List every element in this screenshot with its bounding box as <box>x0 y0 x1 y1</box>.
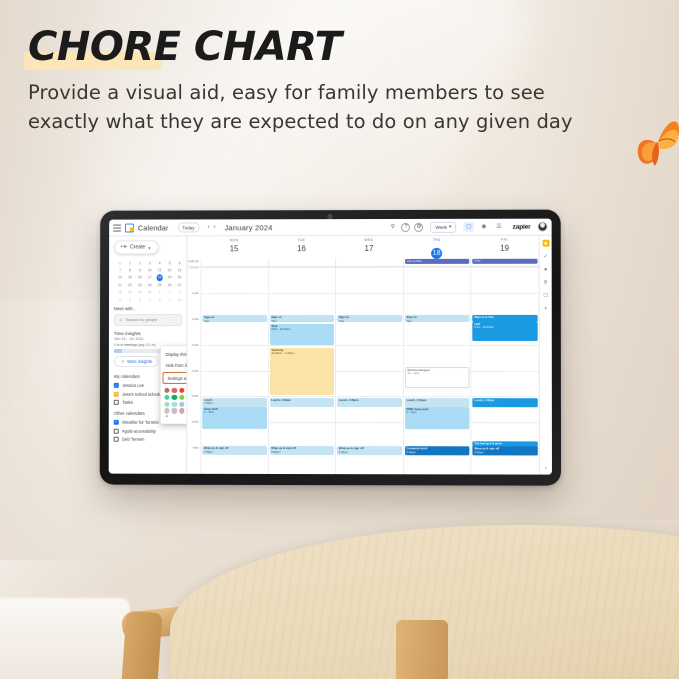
time-label: 6 PM <box>192 420 199 424</box>
event-title: Top lead gen & grow <box>474 442 536 446</box>
context-menu-item[interactable]: Hide from list <box>161 360 187 371</box>
color-swatch-grid[interactable] <box>160 385 186 415</box>
minical-day[interactable]: 27 <box>175 281 185 288</box>
minical-day[interactable]: 24 <box>145 281 155 288</box>
day-number[interactable]: 19 <box>471 242 539 253</box>
color-swatch[interactable] <box>172 395 177 400</box>
hero-text-block: CHORE CHART Provide a visual aid, easy f… <box>28 26 628 137</box>
sidebar: +++ Create ▾ 311234567891011121314151617… <box>109 236 187 473</box>
search-people-input[interactable]: ☺ Search for people <box>114 314 183 326</box>
calendar-checkbox[interactable]: ✓ <box>114 420 119 425</box>
time-insights-heading: Time insights <box>114 331 183 336</box>
hour-line <box>336 371 403 372</box>
hour-line <box>201 267 267 268</box>
calendar-name: Jess's school schedule <box>122 392 164 397</box>
minical-day[interactable]: 30 <box>135 289 145 296</box>
tablet-device: Calendar Today ‹ › January 2024 ⚲ ? ⚙ We… <box>100 210 561 486</box>
event-time: 2 – 5pm <box>406 411 468 414</box>
calendar-view-icon[interactable]: ▢ <box>463 222 474 232</box>
time-label: 5 PM <box>192 394 199 398</box>
day-number[interactable]: 15 <box>200 243 267 254</box>
page-subtitle: Provide a visual aid, easy for family me… <box>28 78 603 137</box>
minical-day[interactable]: 5 <box>165 259 175 266</box>
minical-day[interactable]: 5 <box>125 296 135 303</box>
date-navigation: ‹ › <box>207 224 215 230</box>
app-title: Calendar <box>138 223 169 232</box>
minical-day[interactable]: 4 <box>155 259 165 266</box>
insights-icon: ↗ <box>121 359 124 364</box>
calendar-event[interactable]: Sign on7am <box>270 315 335 322</box>
mini-calendar[interactable]: 3112345678910111213141516171819202122232… <box>115 259 185 303</box>
day-headers: MON15TUE16WED17THU18FRI19 <box>188 236 539 259</box>
minical-day[interactable]: 29 <box>125 289 135 296</box>
time-grid: 12 AM1 AM2 AM3 AM4 AM5 PM6 PM7 PM Sign o… <box>187 267 539 475</box>
all-day-cell[interactable] <box>335 258 403 266</box>
day-column[interactable]: Sign on & 7amL&D9:15 – 10:15amLunch, 1:3… <box>471 267 539 475</box>
chevron-down-icon: ▾ <box>449 224 451 230</box>
day-header[interactable]: FRI19 <box>471 236 539 258</box>
calendar-event[interactable]: Wrap up & sign off5:30pm <box>337 446 402 455</box>
calendar-event[interactable]: Lunch1:30pm <box>202 398 266 407</box>
hour-line <box>336 345 403 346</box>
calendar-event[interactable]: Remote Hangout12 – 1pm <box>405 367 470 388</box>
event-time: 2 – 5pm <box>204 411 265 414</box>
event-title: Sign on & 7am <box>474 316 536 319</box>
calendar-event[interactable]: Deep work2 – 5pm <box>202 407 266 429</box>
minical-day[interactable]: 6 <box>135 296 145 303</box>
calendar-event[interactable]: PMR: deep work2 – 5pm <box>405 407 470 430</box>
minical-day[interactable]: 4 <box>115 296 125 303</box>
hour-line <box>404 345 471 346</box>
hour-line <box>404 293 471 294</box>
calendar-event[interactable]: L&D9:15 – 10:15am <box>473 322 538 341</box>
day-number[interactable]: 16 <box>268 243 335 254</box>
all-day-row: GMT-05 Out of officePTO <box>188 258 539 268</box>
event-time: 5:30pm <box>271 451 332 455</box>
contacts-icon[interactable]: ● <box>542 266 549 273</box>
event-time: 5:30pm <box>204 450 265 454</box>
more-insights-label: More insights <box>127 359 152 364</box>
calendar-event[interactable]: Wrap up & sign off5:30pm <box>473 447 538 456</box>
event-time: 5:30pm <box>339 451 401 455</box>
minical-day[interactable]: 31 <box>145 289 155 296</box>
timezone-label: GMT-05 <box>188 259 201 263</box>
calendar-toolbar: Calendar Today ‹ › January 2024 ⚲ ? ⚙ We… <box>109 219 552 237</box>
time-gutter: 12 AM1 AM2 AM3 AM4 AM5 PM6 PM7 PM <box>187 267 200 474</box>
minical-day[interactable]: 1 <box>125 259 135 266</box>
tablet-screen: Calendar Today ‹ › January 2024 ⚲ ? ⚙ We… <box>109 219 552 475</box>
event-time: 1:30pm <box>204 402 265 405</box>
all-day-cell[interactable]: Out of office <box>403 258 471 266</box>
time-label: 2 AM <box>192 317 198 321</box>
day-column[interactable]: Sign on7amTask9:30 – 10:30amTeaching10:4… <box>268 267 336 474</box>
minical-day[interactable]: 16 <box>135 274 145 281</box>
calendar-list-item[interactable]: Deb Tennen <box>114 435 183 444</box>
event-time: 5:30pm <box>406 451 468 455</box>
minical-day[interactable]: 22 <box>125 281 135 288</box>
calendar-event[interactable]: Sign on7am <box>405 315 470 322</box>
my-calendars-label: My calendars <box>114 374 140 379</box>
minical-day[interactable]: 10 <box>175 296 185 303</box>
minical-day[interactable]: 14 <box>115 274 125 281</box>
all-day-event[interactable]: PTO <box>473 259 538 264</box>
color-swatch[interactable] <box>172 408 177 413</box>
hamburger-icon[interactable] <box>113 224 121 231</box>
hour-line <box>269 422 336 423</box>
maps-icon[interactable]: ⚲ <box>542 279 549 286</box>
search-icon[interactable]: ⚲ <box>388 222 397 231</box>
calendar-event[interactable]: Sign on7am <box>202 315 266 322</box>
today-button[interactable]: Today <box>177 222 199 232</box>
calendar-event[interactable]: Lunch, 1:30pm <box>405 398 470 407</box>
view-select[interactable]: Week ▾ <box>431 221 457 232</box>
chevron-down-icon: ▾ <box>148 245 150 250</box>
event-time: 5:30pm <box>474 451 536 455</box>
calendar-checkbox[interactable] <box>114 428 119 433</box>
event-time: 9:15 – 10:15am <box>474 326 536 329</box>
hour-line <box>472 371 539 372</box>
minical-day[interactable]: 6 <box>175 259 185 266</box>
chevron-expand-icon[interactable]: › <box>545 466 547 472</box>
minical-day[interactable]: 25 <box>155 281 165 288</box>
color-swatch[interactable] <box>179 395 184 400</box>
radiator <box>0 598 130 679</box>
day-of-week-label: FRI <box>471 238 539 242</box>
minical-day[interactable]: 15 <box>125 274 135 281</box>
calendar-name: Jessica Lee <box>122 383 144 388</box>
minical-day[interactable]: 2 <box>165 289 175 296</box>
day-of-week-label: MON <box>200 238 267 242</box>
hour-line <box>404 267 471 268</box>
event-title: Lunch, 1:30pm <box>339 399 400 402</box>
meet-with-label: Meet with… <box>114 306 183 311</box>
all-day-event[interactable]: Out of office <box>405 259 470 264</box>
create-button-label: Create <box>130 244 145 250</box>
minical-day[interactable]: 8 <box>125 267 135 274</box>
apps-grid-icon[interactable]: ☰ <box>493 222 504 232</box>
hour-line <box>336 267 403 268</box>
tasks-icon[interactable]: ✓ <box>542 253 549 260</box>
all-day-cell[interactable]: PTO <box>471 258 539 266</box>
minical-day[interactable]: 23 <box>135 281 145 288</box>
color-swatch[interactable] <box>164 408 169 413</box>
plus-icon[interactable]: + <box>542 305 549 312</box>
side-apps-rail: ■ ✓ ● ⚲ ☐ + › <box>539 236 552 475</box>
other-calendars-label: Other calendars <box>114 410 145 415</box>
search-people-placeholder: Search for people <box>126 317 157 322</box>
day-of-week-label: TUE <box>268 238 335 242</box>
calendar-event[interactable]: Lunch, 1:30pm <box>473 398 538 407</box>
time-label: 3 AM <box>192 343 198 347</box>
minical-day[interactable]: 20 <box>175 274 185 281</box>
keep-icon[interactable]: ■ <box>542 240 549 247</box>
day-column[interactable]: Sign on7amRemote Hangout12 – 1pmLunch, 1… <box>403 267 471 475</box>
time-label: 1 AM <box>192 291 198 295</box>
day-header[interactable]: THU18 <box>403 236 471 258</box>
event-time: 7am <box>204 320 265 323</box>
focus-time-icon[interactable]: ◉ <box>478 222 489 232</box>
color-swatch[interactable] <box>172 401 177 406</box>
calendar-body: +++ Create ▾ 311234567891011121314151617… <box>109 236 552 475</box>
minical-day[interactable]: 7 <box>145 296 155 303</box>
butterfly-decoration <box>628 108 679 178</box>
minical-day[interactable]: 21 <box>115 281 125 288</box>
webcam-icon <box>327 214 332 219</box>
event-time: 10:45am – 1:30pm <box>271 352 332 355</box>
calendar-event[interactable]: Task9:30 – 10:30am <box>270 324 335 345</box>
minical-day[interactable]: 19 <box>165 274 175 281</box>
hour-line <box>269 267 335 268</box>
page-title: CHORE CHART <box>28 26 341 68</box>
avatar[interactable] <box>538 222 548 232</box>
hour-line <box>472 267 539 268</box>
time-label: 4 AM <box>192 368 198 372</box>
more-insights-button[interactable]: ↗ More insights <box>114 356 159 367</box>
hour-line <box>336 422 403 423</box>
all-day-cell[interactable] <box>200 258 267 266</box>
context-menu-item[interactable]: Display this only <box>161 349 187 360</box>
time-label: 12 AM <box>191 267 199 269</box>
color-swatch[interactable] <box>172 388 177 393</box>
day-header[interactable]: WED17 <box>335 236 403 258</box>
google-calendar-logo <box>125 223 134 232</box>
hour-line <box>472 293 539 294</box>
day-header[interactable]: TUE16 <box>268 236 335 258</box>
minical-day[interactable]: 3 <box>175 289 185 296</box>
day-column[interactable]: Sign on7amLunch, 1:30pmWrap up & sign of… <box>335 267 403 474</box>
week-grid: MON15TUE16WED17THU18FRI19 GMT-05 Out of … <box>186 236 539 475</box>
calendar-event[interactable]: Wrap up & sign off5:30pm <box>270 446 335 455</box>
calendar-event[interactable]: Company lunch5:30pm <box>405 447 470 456</box>
gear-icon[interactable]: ⚙ <box>415 222 424 231</box>
minical-day[interactable]: 3 <box>145 259 155 266</box>
calendar-checkbox[interactable] <box>114 437 119 442</box>
event-time: 7am <box>271 320 332 323</box>
hour-line <box>336 293 403 294</box>
minical-day[interactable]: 1 <box>155 289 165 296</box>
time-insights-range: JAN 15 – 19, 2024 <box>114 337 183 341</box>
view-select-label: Week <box>436 224 447 229</box>
hour-line <box>201 293 267 294</box>
person-search-icon: ☺ <box>119 317 123 322</box>
event-title: Lunch, 1:30pm <box>474 399 536 402</box>
minical-day[interactable]: 17 <box>145 274 155 281</box>
calendar-list-item[interactable]: #gold-accessibility <box>114 426 183 435</box>
minical-day[interactable]: 28 <box>115 289 125 296</box>
minical-day[interactable]: 26 <box>165 281 175 288</box>
hour-line <box>201 370 267 371</box>
day-column[interactable]: Sign on7amLunch1:30pmDeep work2 – 5pmWra… <box>200 267 268 474</box>
calendar-name: Deb Tennen <box>122 437 144 442</box>
minical-day[interactable]: 9 <box>165 296 175 303</box>
time-label: 7 PM <box>192 446 199 450</box>
event-title: Lunch, 1:30pm <box>271 399 332 402</box>
all-day-cell[interactable] <box>268 258 335 266</box>
minical-day[interactable]: 12 <box>165 267 175 274</box>
hour-line <box>269 345 336 346</box>
event-title: Lunch, 1:30pm <box>406 399 468 402</box>
minical-day[interactable]: 11 <box>155 267 165 274</box>
color-swatch[interactable] <box>179 388 184 393</box>
next-week-icon[interactable]: › <box>213 224 215 230</box>
calendar-event[interactable]: Wrap up & sign off5:30pm <box>202 446 266 455</box>
minical-day[interactable]: 18 <box>155 274 165 281</box>
table-leg-center <box>396 620 448 679</box>
calendar-name: Weather for Toronto <box>122 420 159 425</box>
color-swatch[interactable] <box>164 395 169 400</box>
hour-line <box>472 345 539 346</box>
event-time: 9:30 – 10:30am <box>271 328 332 331</box>
hour-line <box>201 345 267 346</box>
minical-day[interactable]: 13 <box>175 267 185 274</box>
create-plus-icon: +++ <box>120 244 127 251</box>
day-of-week-label: WED <box>335 238 403 242</box>
calendar-event[interactable]: Sign on & 7am <box>473 315 538 322</box>
day-number[interactable]: 17 <box>335 242 403 253</box>
calendar-checkbox[interactable]: ✓ <box>114 392 119 397</box>
calendar-name: #gold-accessibility <box>122 428 156 433</box>
current-month-label: January 2024 <box>224 223 272 232</box>
plus-icon[interactable]: + <box>160 415 186 422</box>
calendar-event[interactable]: Teaching10:45am – 1:30pm <box>270 348 335 395</box>
color-swatch[interactable] <box>164 388 169 393</box>
hour-line <box>472 422 539 423</box>
calendar-checkbox[interactable] <box>114 400 119 405</box>
account-name: zapier <box>513 223 531 230</box>
day-header[interactable]: MON15 <box>200 236 267 258</box>
color-swatch[interactable] <box>164 401 169 406</box>
color-swatch[interactable] <box>179 401 184 406</box>
calendar-event[interactable]: Lunch, 1:30pm <box>270 398 335 407</box>
event-time: 7am <box>406 319 468 322</box>
calendar-checkbox[interactable]: ✓ <box>114 383 119 388</box>
context-menu-item[interactable]: Settings and sharing <box>162 372 186 384</box>
help-icon[interactable]: ? <box>401 222 410 231</box>
calendar-event[interactable]: Sign on7am <box>337 315 402 322</box>
color-swatch[interactable] <box>179 408 184 413</box>
table-leg-left <box>122 611 163 679</box>
hour-line <box>269 293 335 294</box>
minical-day[interactable]: 31 <box>115 259 125 266</box>
event-time: 12 – 1pm <box>407 372 467 375</box>
chat-icon[interactable]: ☐ <box>542 292 549 299</box>
create-button[interactable]: +++ Create ▾ <box>114 240 158 254</box>
calendar-event[interactable]: Lunch, 1:30pm <box>337 398 402 407</box>
minical-day[interactable]: 7 <box>115 267 125 274</box>
calendar-context-menu[interactable]: Display this onlyHide from listSettings … <box>160 346 186 424</box>
minical-day[interactable]: 8 <box>155 296 165 303</box>
event-time: 7am <box>339 319 400 322</box>
minical-day[interactable]: 9 <box>135 267 145 274</box>
calendar-name: Tasks <box>122 400 133 405</box>
minical-day[interactable]: 2 <box>135 259 145 266</box>
prev-week-icon[interactable]: ‹ <box>207 224 209 230</box>
minical-day[interactable]: 10 <box>145 267 155 274</box>
